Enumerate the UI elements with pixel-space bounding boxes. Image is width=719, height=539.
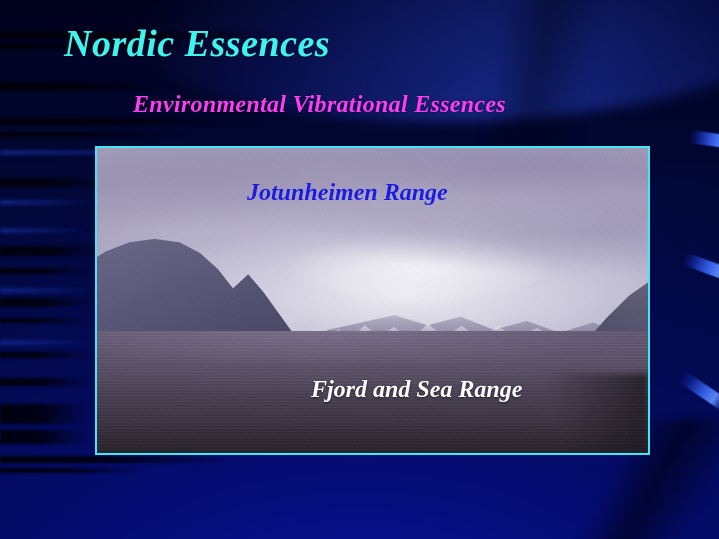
background-streak [0, 118, 260, 125]
slide-title: Nordic Essences [64, 22, 330, 66]
background-streak-light [0, 288, 92, 293]
fjord-photo: Jotunheimen Range Fjord and Sea Range [95, 146, 650, 455]
background-streak [0, 468, 150, 473]
background-streak [0, 298, 94, 307]
background-streak-light [0, 200, 96, 205]
presentation-slide: Nordic Essences Environmental Vibrationa… [0, 0, 719, 539]
photo-water-shadow [527, 374, 648, 453]
background-streak [0, 82, 175, 91]
background-streak [0, 268, 96, 274]
background-streak [0, 378, 94, 386]
background-streak [0, 404, 92, 424]
background-swoosh-dark-top [330, 0, 719, 160]
background-streak [0, 430, 92, 444]
photo-caption-top: Jotunheimen Range [247, 180, 448, 207]
background-streak [0, 352, 92, 358]
background-streak-light [0, 340, 94, 345]
background-streak [0, 318, 90, 323]
slide-subtitle: Environmental Vibrational Essences [133, 92, 506, 119]
background-streak [0, 246, 110, 256]
background-streak-light [0, 228, 86, 233]
background-streak [0, 132, 190, 137]
background-streak [0, 456, 240, 463]
photo-caption-bottom: Fjord and Sea Range [311, 377, 522, 404]
